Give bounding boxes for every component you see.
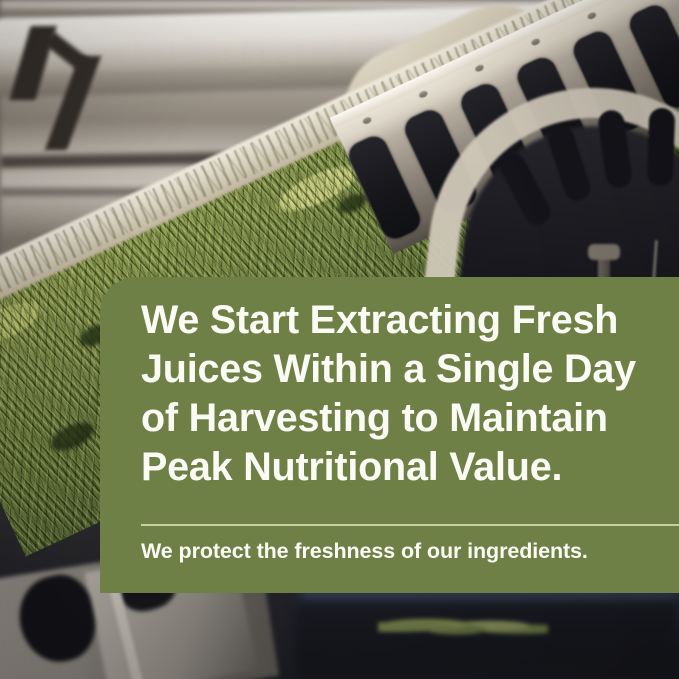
- headline-divider-rule: [141, 524, 679, 526]
- headline-line-2: Juices Within a Single Day: [141, 345, 655, 394]
- headline-line-4: Peak Nutritional Value.: [141, 443, 655, 492]
- headline-line-1: We Start Extracting Fresh: [141, 296, 655, 345]
- green-message-card: We Start Extracting Fresh Juices Within …: [100, 277, 679, 593]
- arch-slot-4: [647, 108, 676, 187]
- headline-text: We Start Extracting Fresh Juices Within …: [141, 296, 655, 492]
- headline-line-3: of Harvesting to Maintain: [141, 394, 655, 443]
- fallen-herb-debris: [378, 614, 548, 640]
- promo-image-canvas: We Start Extracting Fresh Juices Within …: [0, 0, 679, 679]
- machine-shaft-cap: [588, 244, 620, 260]
- subheadline-text: We protect the freshness of our ingredie…: [141, 536, 679, 566]
